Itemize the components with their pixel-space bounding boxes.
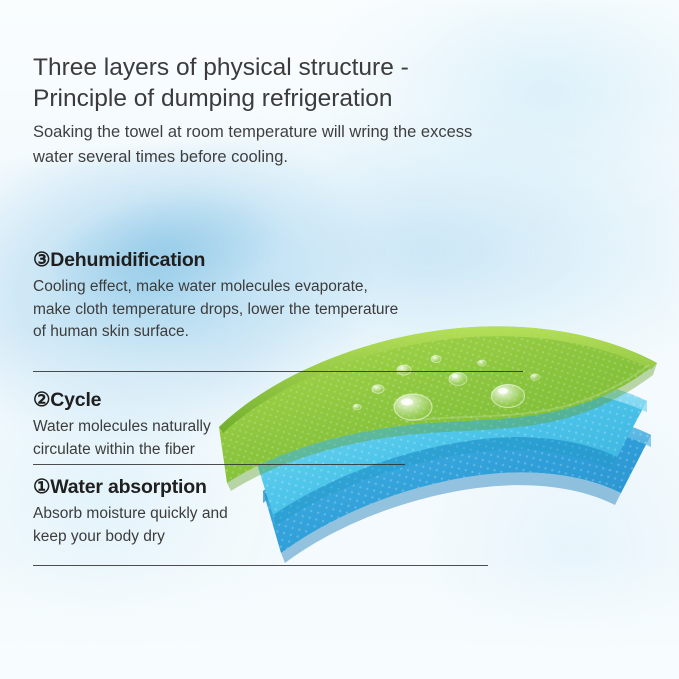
- section-dehumidification-line-3: of human skin surface.: [33, 323, 189, 340]
- section-dehumidification-line-1: Cooling effect, make water molecules eva…: [33, 278, 368, 295]
- page-title: Three layers of physical structure - Pri…: [33, 52, 633, 114]
- section-water-absorption: ①Water absorption Absorb moisture quickl…: [33, 475, 283, 548]
- section-dehumidification-heading: ③Dehumidification: [33, 248, 453, 272]
- section-cycle-line-1: Water molecules naturally: [33, 418, 211, 435]
- section-water-absorption-heading: ①Water absorption: [33, 475, 283, 499]
- section-cycle-line-2: circulate within the fiber: [33, 441, 195, 458]
- section-cycle-heading: ②Cycle: [33, 388, 263, 412]
- section-water-absorption-line-2: keep your body dry: [33, 528, 165, 545]
- section-water-absorption-line-1: Absorb moisture quickly and: [33, 505, 228, 522]
- page-title-line-1: Three layers of physical structure -: [33, 54, 409, 81]
- product-infographic: Three layers of physical structure - Pri…: [0, 0, 679, 679]
- page-title-line-2: Principle of dumping refrigeration: [33, 85, 393, 112]
- divider-water-absorption: [33, 565, 488, 566]
- divider-cycle: [33, 464, 405, 465]
- divider-dehumidification: [33, 371, 523, 372]
- page-subtitle: Soaking the towel at room temperature wi…: [33, 120, 593, 170]
- page-subtitle-line-2: water several times before cooling.: [33, 148, 288, 166]
- section-cycle: ②Cycle Water molecules naturally circula…: [33, 388, 263, 461]
- section-dehumidification: ③Dehumidification Cooling effect, make w…: [33, 248, 453, 344]
- section-dehumidification-body: Cooling effect, make water molecules eva…: [33, 276, 453, 344]
- section-water-absorption-body: Absorb moisture quickly and keep your bo…: [33, 503, 283, 548]
- page-subtitle-line-1: Soaking the towel at room temperature wi…: [33, 123, 472, 141]
- section-cycle-body: Water molecules naturally circulate with…: [33, 416, 263, 461]
- background-wash-upper-right: [330, 0, 679, 230]
- section-dehumidification-line-2: make cloth temperature drops, lower the …: [33, 301, 398, 318]
